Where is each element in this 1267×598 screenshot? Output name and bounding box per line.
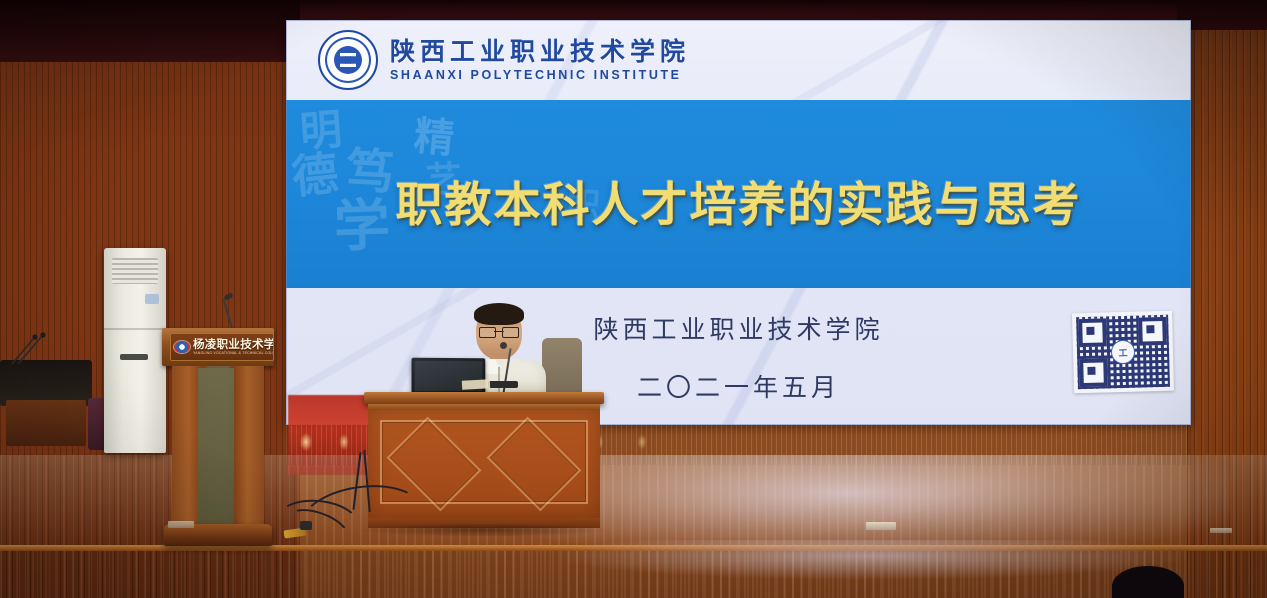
- podium-felt-panel: [198, 368, 234, 524]
- slide-footer-line-1: 陕西工业职业技术学院: [286, 310, 1191, 346]
- podium-sign-zh: 杨凌职业技术学院: [193, 339, 274, 351]
- slide-title-band: 明 精 德 笃 艺 学 职 职教本科人才培养的实践与思考: [286, 100, 1191, 288]
- presenter-glasses-icon: [479, 327, 519, 336]
- floor-outlet-plate-3: [1210, 528, 1232, 533]
- qr-finder-top-left-icon: [1078, 318, 1107, 347]
- slide-school-name-en: SHAANXI POLYTECHNIC INSTITUTE: [390, 68, 690, 82]
- podium-name-plate: 杨凌职业技术学院 YANGLING VOCATIONAL & TECHNICAL…: [170, 333, 274, 361]
- floor-outlet-plate-2: [866, 522, 896, 530]
- yangling-college-emblem-icon: [174, 341, 190, 353]
- audience-head-silhouette: [1112, 566, 1184, 598]
- table-papers: [462, 379, 490, 389]
- cable-adapter-box: [300, 521, 312, 530]
- floor-outlet-plate-1: [168, 521, 194, 528]
- ac-brand-badge: [145, 294, 159, 304]
- floor-standing-air-conditioner: [104, 248, 166, 453]
- slide-logo-row: 陕西工业职业技术学院 SHAANXI POLYTECHNIC INSTITUTE: [318, 30, 690, 90]
- podium-name-plate-text: 杨凌职业技术学院 YANGLING VOCATIONAL & TECHNICAL…: [193, 339, 274, 356]
- table-dark-object: [488, 381, 518, 388]
- emblem-glyph-icon: [333, 45, 363, 75]
- lectern-podium: 杨凌职业技术学院 YANGLING VOCATIONAL & TECHNICAL…: [162, 328, 274, 550]
- ac-control-panel: [120, 354, 148, 360]
- valance-left-drape: [0, 0, 300, 62]
- table-microphone-head-icon: [500, 342, 507, 349]
- table-top-surface: [364, 392, 604, 404]
- ac-vent-louvers: [112, 258, 158, 284]
- glasses-left-lens: [479, 327, 496, 338]
- shaanxi-polytechnic-emblem-icon: [318, 30, 378, 90]
- chair-backrest: [542, 338, 582, 394]
- qr-code: 工: [1072, 311, 1174, 394]
- glasses-right-lens: [502, 327, 519, 338]
- podium-top-shelf: 杨凌职业技术学院 YANGLING VOCATIONAL & TECHNICAL…: [162, 328, 274, 366]
- calligraphy-char-2: 精: [412, 116, 455, 159]
- wooden-equipment-box: [6, 400, 86, 446]
- side-microphone-icon: [8, 330, 68, 366]
- ac-panel-seam: [104, 328, 166, 330]
- presenter-hair: [474, 303, 524, 325]
- qr-finder-top-right-icon: [1138, 317, 1167, 346]
- qr-finder-bottom-left-icon: [1079, 358, 1108, 387]
- slide-header: 陕西工业职业技术学院 SHAANXI POLYTECHNIC INSTITUTE: [286, 20, 1191, 100]
- stage-front-apron: [0, 551, 1267, 598]
- slide-school-name-zh: 陕西工业职业技术学院: [390, 38, 690, 66]
- slide-main-title: 职教本科人才培养的实践与思考: [286, 166, 1191, 235]
- podium-sign-en: YANGLING VOCATIONAL & TECHNICAL COLLEGE: [193, 352, 274, 355]
- qr-code-pattern: 工: [1076, 315, 1170, 389]
- screenshot-root: 陕西工业职业技术学院 SHAANXI POLYTECHNIC INSTITUTE…: [0, 0, 1267, 598]
- qr-center-logo-icon: 工: [1111, 340, 1136, 365]
- slide-school-names: 陕西工业职业技术学院 SHAANXI POLYTECHNIC INSTITUTE: [390, 38, 690, 82]
